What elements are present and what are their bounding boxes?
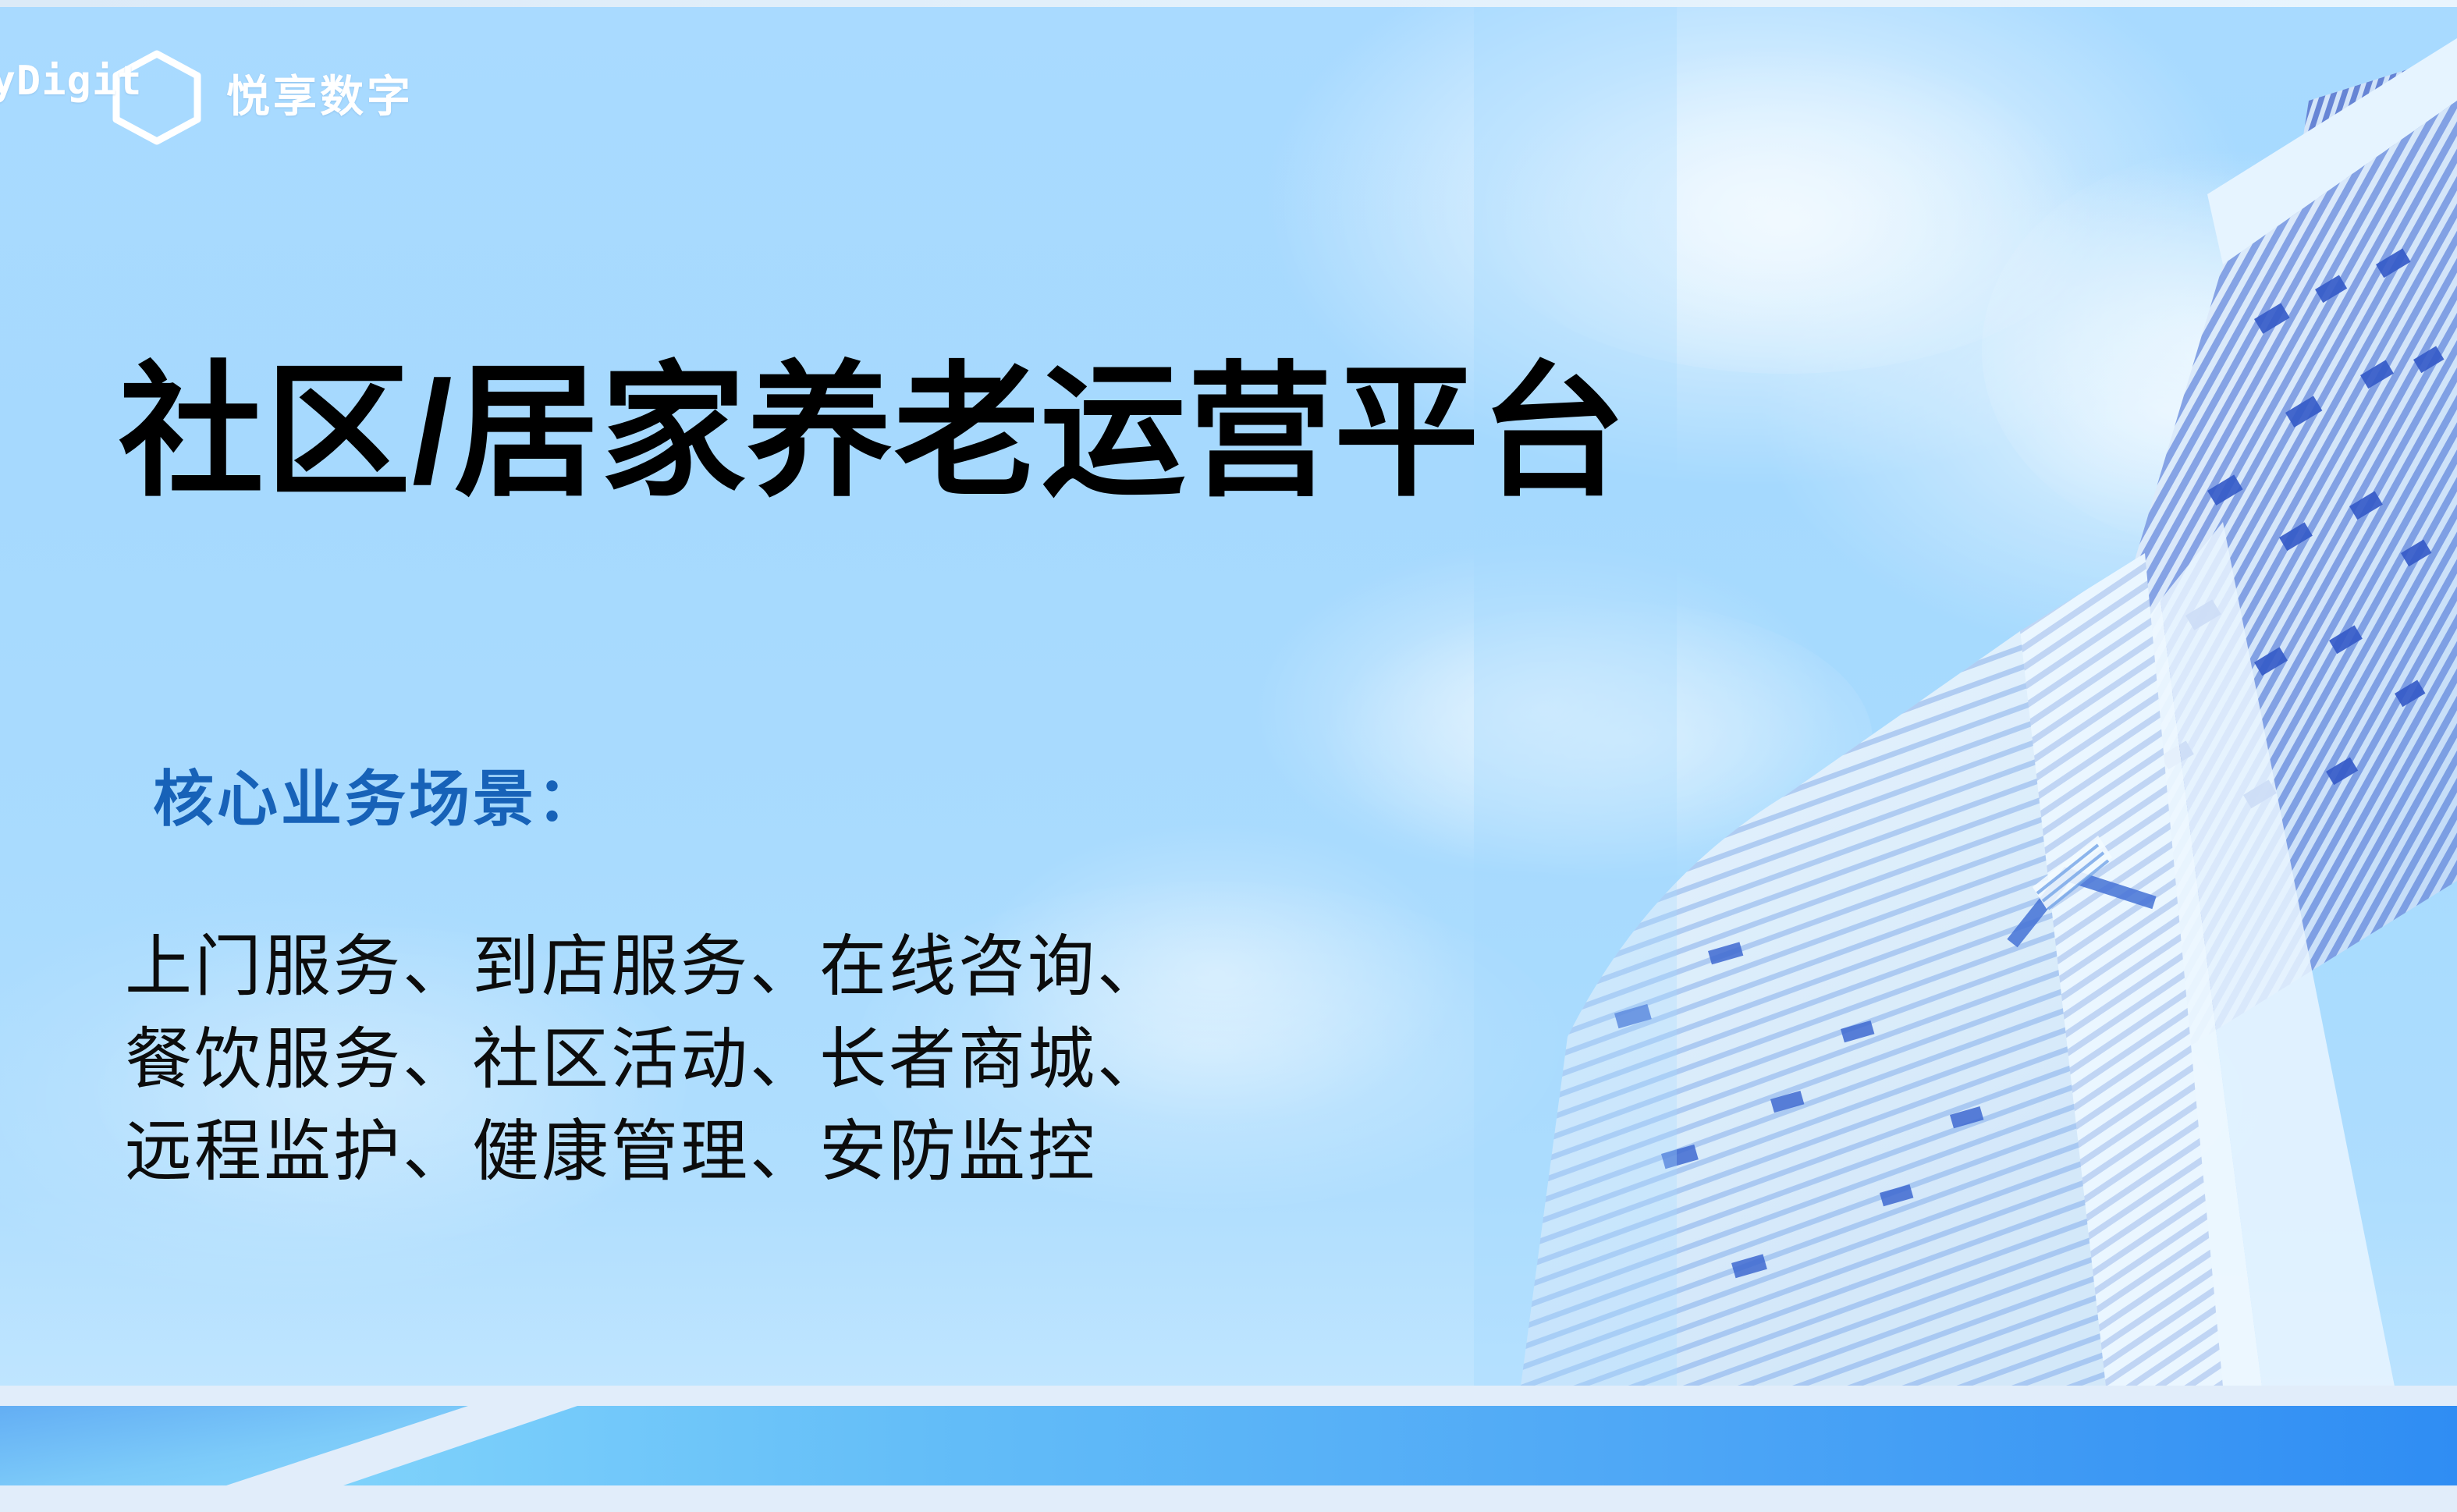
core-scenarios-line: 餐饮服务、社区活动、长者商城、 — [125, 1013, 1166, 1106]
top-edge-strip — [0, 0, 2457, 7]
core-scenarios-label: 核心业务场景： — [153, 768, 601, 829]
logo-wordmark: JoyDigit — [0, 58, 142, 105]
core-scenarios-list: 上门服务、到店服务、在线咨询、 餐饮服务、社区活动、长者商城、 远程监护、健康管… — [125, 921, 1166, 1198]
footer-decorative-band — [0, 1386, 2457, 1512]
page-title: 社区/居家养老运营平台 — [119, 355, 1628, 512]
skyscraper-photo — [1474, 7, 2457, 1386]
core-scenarios-line: 上门服务、到店服务、在线咨询、 — [125, 921, 1166, 1013]
slide-root: JoyDigit 悦享数字 社区/居家养老运营平台 核心业务场景： 上门服务、到… — [0, 0, 2457, 1512]
core-scenarios-line: 远程监护、健康管理、安防监控 — [125, 1106, 1166, 1198]
logo-chinese-name: 悦享数字 — [226, 75, 414, 119]
logo-mark: JoyDigit — [72, 61, 209, 133]
brand-logo: JoyDigit 悦享数字 — [72, 61, 414, 133]
